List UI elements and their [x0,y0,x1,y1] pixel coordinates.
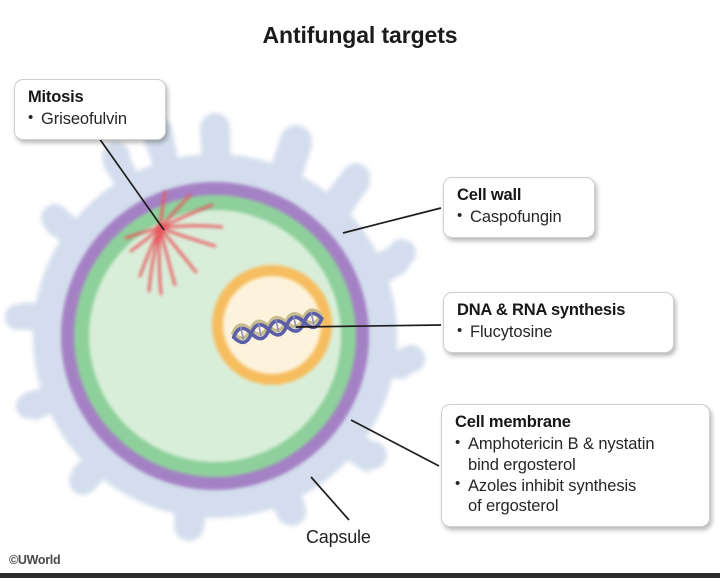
list-item: Flucytosine [457,322,661,343]
diagram-canvas: Antifungal targets [0,0,720,581]
list-item: Caspofungin [457,207,582,228]
callout-list: Flucytosine [457,322,661,343]
callout-title: Mitosis [28,87,153,108]
list-item: Azoles inhibit synthesis of ergosterol [455,476,697,518]
callout-title: Cell membrane [455,412,697,433]
callout-cell-wall[interactable]: Cell wall Caspofungin [443,177,595,238]
callout-list: Caspofungin [457,207,582,228]
list-item: Amphotericin B & nystatin bind ergostero… [455,434,697,476]
list-item: Griseofulvin [28,109,153,130]
callout-list: Amphotericin B & nystatin bind ergostero… [455,434,697,517]
leader-line-capsule [311,477,349,520]
callout-dna-rna-synthesis[interactable]: DNA & RNA synthesis Flucytosine [443,292,674,353]
callout-title: Cell wall [457,185,582,206]
callout-cell-membrane[interactable]: Cell membrane Amphotericin B & nystatin … [441,404,710,527]
callout-title: DNA & RNA synthesis [457,300,661,321]
uworld-watermark: ©UWorld [9,553,60,567]
callout-mitosis[interactable]: Mitosis Griseofulvin [14,79,166,140]
label-capsule: Capsule [306,527,371,548]
callout-list: Griseofulvin [28,109,153,130]
bottom-bar [0,573,720,578]
leader-line-cell-wall [343,208,441,233]
